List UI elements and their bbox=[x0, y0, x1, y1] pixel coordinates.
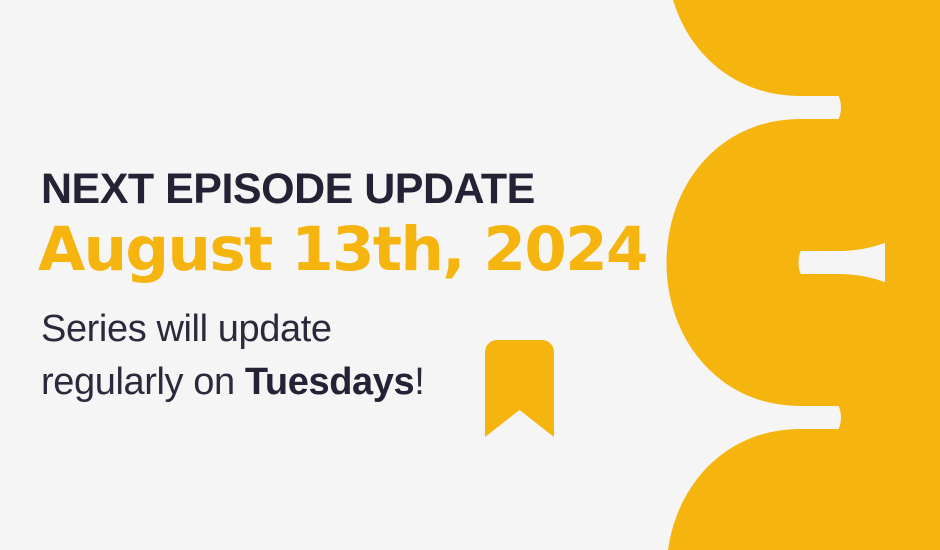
subtitle-line-2-strong: Tuesdays bbox=[245, 361, 414, 403]
eyebrow-heading: NEXT EPISODE UPDATE bbox=[41, 168, 721, 212]
banner-content: NEXT EPISODE UPDATE August 13th, 2024 Se… bbox=[41, 168, 721, 410]
subtitle-line-2-suffix: ! bbox=[414, 361, 424, 403]
subtitle-line-2-prefix: regularly on bbox=[41, 361, 245, 403]
date-heading: August 13th, 2024 bbox=[38, 218, 721, 283]
bookmark-icon bbox=[485, 340, 554, 437]
subtitle-block: Series will update regularly on Tuesdays… bbox=[41, 303, 721, 411]
subtitle-line-1: Series will update bbox=[41, 303, 721, 357]
next-episode-update-banner: NEXT EPISODE UPDATE August 13th, 2024 Se… bbox=[0, 0, 940, 550]
subtitle-line-2: regularly on Tuesdays! bbox=[41, 356, 721, 410]
